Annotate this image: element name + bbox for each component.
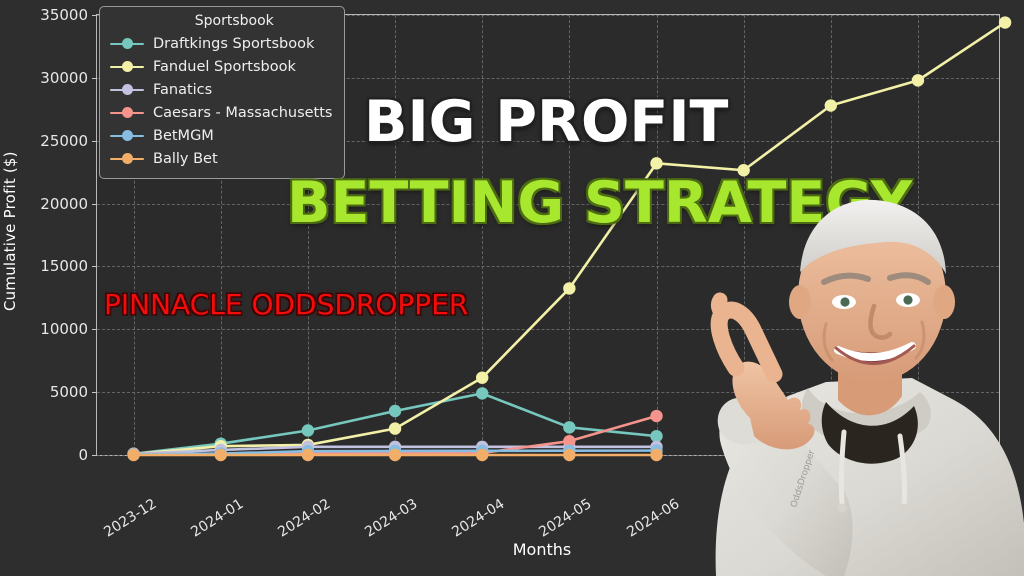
legend-color-swatch xyxy=(110,37,144,51)
legend-color-swatch xyxy=(110,83,144,97)
x-tick-label: 2023-12 xyxy=(101,496,159,541)
overlay-tagline: PINNACLE ODDSDROPPER xyxy=(104,288,468,321)
series-marker xyxy=(563,421,575,433)
y-tick-label: 20000 xyxy=(40,195,97,213)
y-tick-label: 30000 xyxy=(40,69,97,87)
x-tick-label: 2024-06 xyxy=(624,496,682,541)
overlay-headline: BIG PROFIT xyxy=(364,89,728,155)
series-marker xyxy=(476,387,488,399)
presenter-photo: OddsDropper xyxy=(676,156,1024,576)
y-tick-label: 10000 xyxy=(40,320,97,338)
legend-entry[interactable]: Caesars - Massachusetts xyxy=(110,101,332,124)
y-tick-label: 15000 xyxy=(40,257,97,275)
legend-color-swatch xyxy=(110,106,144,120)
legend-entry[interactable]: Bally Bet xyxy=(110,147,332,170)
series-marker xyxy=(563,282,575,294)
legend-title: Sportsbook xyxy=(110,13,332,29)
series-marker xyxy=(476,449,488,461)
legend-entry[interactable]: Fanatics xyxy=(110,78,332,101)
series-marker xyxy=(825,99,837,111)
y-tick-label: 5000 xyxy=(50,383,97,401)
legend-entry[interactable]: Draftkings Sportsbook xyxy=(110,32,332,55)
series-marker xyxy=(563,449,575,461)
legend-entry-label: Fanduel Sportsbook xyxy=(153,59,296,75)
thumbnail-canvas: Cumulative Profit ($) 050001000015000200… xyxy=(0,0,1024,576)
series-marker xyxy=(999,16,1011,28)
legend-entry[interactable]: Fanduel Sportsbook xyxy=(110,55,332,78)
y-axis-title: Cumulative Profit ($) xyxy=(0,0,22,462)
x-axis-title: Months xyxy=(513,540,571,559)
series-marker xyxy=(476,371,488,383)
legend-color-swatch xyxy=(110,129,144,143)
x-tick-label: 2024-03 xyxy=(362,496,420,541)
x-tick-label: 2024-05 xyxy=(537,496,595,541)
series-marker xyxy=(389,449,401,461)
legend-entries: Draftkings SportsbookFanduel SportsbookF… xyxy=(110,32,332,170)
x-tick-label: 2024-02 xyxy=(275,496,333,541)
chart-legend: Sportsbook Draftkings SportsbookFanduel … xyxy=(99,6,345,179)
legend-entry-label: BetMGM xyxy=(153,128,214,144)
series-marker xyxy=(302,449,314,461)
legend-color-swatch xyxy=(110,152,144,166)
legend-entry[interactable]: BetMGM xyxy=(110,124,332,147)
series-marker xyxy=(650,449,662,461)
series-marker xyxy=(650,410,662,422)
legend-entry-label: Bally Bet xyxy=(153,151,218,167)
y-tick-label: 0 xyxy=(78,446,97,464)
series-marker xyxy=(127,449,139,461)
legend-color-swatch xyxy=(110,60,144,74)
legend-entry-label: Fanatics xyxy=(153,82,212,98)
legend-entry-label: Draftkings Sportsbook xyxy=(153,36,314,52)
series-marker xyxy=(215,449,227,461)
x-tick-label: 2024-04 xyxy=(449,496,507,541)
x-tick-label: 2024-01 xyxy=(188,496,246,541)
legend-entry-label: Caesars - Massachusetts xyxy=(153,105,332,121)
series-marker xyxy=(650,430,662,442)
y-tick-label: 25000 xyxy=(40,132,97,150)
y-tick-label: 35000 xyxy=(40,6,97,24)
series-marker xyxy=(302,424,314,436)
series-marker xyxy=(650,157,662,169)
series-marker xyxy=(912,74,924,86)
series-marker xyxy=(389,422,401,434)
series-marker xyxy=(389,405,401,417)
